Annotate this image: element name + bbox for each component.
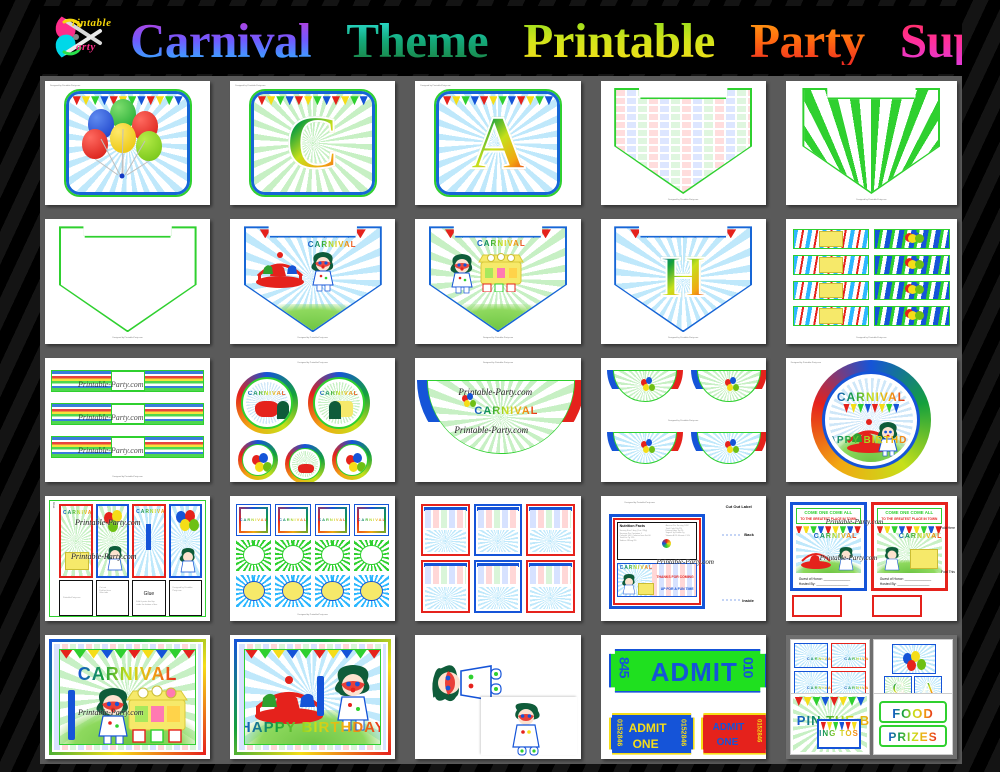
sheet-note: Designed by Printable-Party.com bbox=[824, 337, 919, 340]
pennant-shape: CARNIVAL bbox=[244, 226, 382, 332]
ticket-serial: 0152846 bbox=[680, 719, 687, 746]
gallery-item-happy-birthday-poster[interactable]: HAPPY BIRTHDAY bbox=[225, 630, 406, 764]
bottle-label: Printable-Party.com bbox=[51, 370, 204, 392]
glue-label: Glue bbox=[144, 591, 155, 597]
print-sheet: Designed by Printable-Party.com bbox=[601, 81, 766, 205]
pennant-inner bbox=[61, 228, 195, 330]
invite-caption: CARNIVAL bbox=[899, 533, 942, 540]
product-gallery-grid: Designed by Printable-Party.com bbox=[40, 76, 962, 764]
party-fan-small bbox=[607, 432, 683, 470]
clown-character-icon bbox=[178, 546, 198, 574]
sign-caption: CARNIVAL bbox=[844, 685, 870, 690]
invite-headline-2: TO THE GREATEST PLACE IN TOWN bbox=[881, 517, 937, 521]
gallery-item-cupcake-toppers-circles[interactable]: Designed by Printable-Party.com CARNIVAL… bbox=[225, 353, 406, 487]
print-sheet: CARNIVAL CARNIVAL CARNIVAL CARNIVAL bbox=[786, 635, 957, 759]
watermark: Printable-Party.com bbox=[78, 413, 144, 422]
gallery-item-water-bottle-labels[interactable]: Designed by Printable-Party.com Printabl… bbox=[40, 353, 221, 487]
banner-letter: H bbox=[661, 248, 706, 306]
party-fan-large: Printable-Party.com CARNIVAL Printable-P… bbox=[417, 380, 580, 464]
sheet-note: Designed by Printable-Party.com bbox=[824, 199, 919, 202]
note-card bbox=[526, 560, 574, 612]
watermark: Printable-Party.com bbox=[78, 380, 144, 389]
print-sheet: Glue CARNIVAL bbox=[45, 496, 210, 620]
sheet-note: Designed by Printable-Party.com bbox=[265, 614, 360, 617]
gallery-item-clown-cutouts[interactable] bbox=[410, 630, 591, 764]
bunting-icon bbox=[630, 229, 736, 238]
print-sheet: Designed by Printable-Party.com CARNIVAL bbox=[415, 219, 580, 343]
ticket-serial-right: 010 bbox=[741, 657, 757, 677]
sheet-note: Designed by Printable-Party.com bbox=[50, 85, 108, 88]
pennant-shape: CARNIVAL bbox=[429, 226, 567, 332]
favor-box-panel: CARNIVAL bbox=[59, 504, 93, 578]
plaque-frame: C bbox=[251, 91, 375, 195]
invite-headline-1: COME ONE COME ALL bbox=[804, 510, 852, 515]
glue-tab-label: Glue bbox=[52, 502, 56, 508]
favor-box-panel: CARNIVAL bbox=[132, 504, 166, 578]
print-sheet: Designed by Printable-Party.com Cut Out … bbox=[601, 496, 766, 620]
sticker-tile: CARNIVAL bbox=[354, 504, 389, 535]
panel-caption: CARNIVAL bbox=[63, 510, 93, 516]
nutrition-facts-title: Nutrition Facts bbox=[620, 524, 645, 528]
pennant-shape bbox=[802, 88, 940, 194]
pennant-inner: CARNIVAL bbox=[431, 228, 565, 330]
page-title: Carnival Theme Printable Party Supplies bbox=[130, 16, 962, 65]
sticker-sunburst bbox=[236, 540, 271, 571]
print-sheet: HAPPY BIRTHDAY bbox=[230, 635, 395, 759]
gallery-item-game-signs-sheet[interactable]: CARNIVAL CARNIVAL CARNIVAL CARNIVAL bbox=[781, 630, 962, 764]
title-word-printable: Printable bbox=[523, 16, 714, 65]
print-sheet bbox=[415, 635, 580, 759]
gallery-item-carousel-clown-pennant[interactable]: Designed by Printable-Party.com CARNIVAL bbox=[225, 214, 406, 348]
bunting-icon bbox=[795, 697, 865, 704]
gallery-item-small-party-fans[interactable]: Designed by Printable-Party.com bbox=[596, 353, 777, 487]
sheet-note: Designed by Printable-Party.com bbox=[636, 199, 731, 202]
sticker-sunburst bbox=[315, 540, 350, 571]
gallery-item-sticker-circles-sheet[interactable]: Designed by Printable-Party.com CARNIVAL… bbox=[225, 491, 406, 625]
sticker-sunburst bbox=[236, 575, 271, 606]
print-sheet: Designed by Printable-Party.com CARNIVAL… bbox=[230, 358, 395, 482]
printable-party-logo: rintable arty bbox=[54, 9, 124, 71]
watermark: Printable-Party.com bbox=[75, 518, 141, 527]
invite-caption: CARNIVAL bbox=[814, 533, 858, 540]
gallery-item-food-stand-clown-pennant[interactable]: Designed by Printable-Party.com CARNIVAL bbox=[410, 214, 591, 348]
party-fan-small bbox=[691, 432, 766, 470]
gallery-item-balloons-banner-panel[interactable]: Designed by Printable-Party.com bbox=[40, 76, 221, 210]
game-sign-prizes: PRIZES bbox=[888, 730, 937, 744]
title-word-party: Party bbox=[750, 16, 865, 65]
plaque-frame: A bbox=[436, 91, 560, 195]
admit-ticket-red[interactable]: ADMIT ONE 0152846 bbox=[701, 713, 766, 755]
clown-character-icon bbox=[447, 252, 477, 294]
sheet-note: Designed by Printable-Party.com bbox=[80, 337, 175, 340]
clown-cutout-small-icon bbox=[487, 703, 557, 759]
gallery-item-green-sunburst-pennant[interactable]: Designed by Printable-Party.com bbox=[781, 76, 962, 210]
gallery-item-letter-h-banner-pennant[interactable]: Designed by Printable-Party.com H bbox=[596, 214, 777, 348]
plate-small bbox=[285, 444, 325, 482]
invite-fields: Guest of Honor: ______________ Hosted By… bbox=[880, 577, 939, 584]
ticket-label: ADMIT bbox=[651, 657, 738, 688]
print-sheet: Designed by Printable-Party.com C bbox=[230, 81, 395, 205]
gallery-item-napkin-ring-wrappers[interactable]: Designed by Printable-Party.com bbox=[781, 214, 962, 348]
sheet-note: Designed by Printable-Party.com bbox=[80, 476, 175, 479]
carousel-icon bbox=[254, 246, 306, 290]
sheet-note: Designed by Printable-Party.com bbox=[268, 362, 358, 365]
sticker-sunburst bbox=[354, 540, 389, 571]
gallery-item-admit-one-tickets[interactable]: 845 ADMIT 010 0152846 ADMIT ONE 0152846 … bbox=[596, 630, 777, 764]
sticker-caption: CARNIVAL bbox=[358, 517, 386, 522]
sign-caption-bottom: HAPPY BIRTHDAY bbox=[829, 435, 913, 446]
invitation-card: COME ONE COME ALL TO THE GREATEST PLACE … bbox=[871, 502, 948, 590]
page-root: rintable arty Carnival Theme Printable P… bbox=[0, 0, 1000, 772]
carousel-icon bbox=[251, 670, 327, 726]
sticker-tile: CARNIVAL bbox=[236, 504, 271, 535]
sheet-note: Designed by Printable-Party.com bbox=[420, 85, 478, 88]
note-card bbox=[421, 560, 469, 612]
gallery-item-letter-a-banner-panel[interactable]: Designed by Printable-Party.com A bbox=[410, 76, 591, 210]
bunting-icon bbox=[445, 229, 551, 238]
plate-small bbox=[332, 440, 372, 480]
sheet-note: Designed by Printable-Party.com bbox=[636, 337, 731, 340]
print-sheet: Designed by Printable-Party.com bbox=[601, 358, 766, 482]
print-sheet: Designed by Printable-Party.com CARNIVAL bbox=[786, 358, 957, 482]
print-sheet: Designed by Printable-Party.com Printabl… bbox=[415, 358, 580, 482]
clown-character-icon bbox=[621, 573, 637, 595]
watermark: Printable-Party.com bbox=[454, 425, 528, 435]
watermark: Printable-Party.com bbox=[71, 552, 137, 561]
print-sheet: Designed by Printable-Party.com Printabl… bbox=[45, 358, 210, 482]
print-sheet: Designed by Printable-Party.com bbox=[786, 81, 957, 205]
banner-letter: C bbox=[285, 105, 340, 181]
poster-caption: HAPPY BIRTHDAY bbox=[244, 719, 381, 736]
sticker-sunburst bbox=[354, 575, 389, 606]
party-fan-small bbox=[691, 370, 766, 408]
leader-line-icon bbox=[722, 597, 742, 603]
print-sheet: Designed by Printable-Party.com bbox=[45, 81, 210, 205]
invite-headline-1: COME ONE COME ALL bbox=[885, 510, 933, 515]
pennant-caption: CARNIVAL bbox=[308, 240, 357, 249]
sign-preview: FOOD PRIZES bbox=[873, 693, 953, 755]
note-card bbox=[421, 504, 469, 556]
sheet-note: Designed by Printable-Party.com bbox=[791, 362, 849, 365]
print-sheet: Designed by Printable-Party.com bbox=[45, 219, 210, 343]
back-label: Back bbox=[744, 532, 754, 537]
sheet-note: Designed by Printable-Party.com bbox=[450, 337, 545, 340]
sticker-sunburst bbox=[275, 540, 310, 571]
bunting-icon bbox=[245, 650, 380, 662]
ticket-label-line-1: ADMIT bbox=[713, 722, 745, 733]
sticker-sunburst bbox=[275, 575, 310, 606]
print-sheet: Designed by Printable-Party.com bbox=[786, 219, 957, 343]
print-sheet: Designed by Printable-Party.com CARNIVAL… bbox=[230, 496, 395, 620]
invite-fields: Guest of Honor: ______________ Hosted By… bbox=[799, 577, 858, 584]
invitation-card: COME ONE COME ALL TO THE GREATEST PLACE … bbox=[790, 502, 867, 590]
pennant-inner: CARNIVAL bbox=[246, 228, 380, 330]
sheet-note: Designed by Printable-Party.com bbox=[453, 362, 543, 365]
favor-box-panel bbox=[96, 504, 130, 578]
watermark: Printable-Party.com bbox=[78, 446, 144, 455]
plate-small bbox=[238, 440, 278, 480]
ticket-label-line-1: ADMIT bbox=[629, 721, 667, 735]
plaque-frame bbox=[66, 91, 190, 195]
note-card bbox=[526, 504, 574, 556]
gallery-item-blue-sunburst-pennant[interactable]: Designed by Printable-Party.com bbox=[40, 214, 221, 348]
sign-preview: PIN THE BOW RING TOSS bbox=[790, 693, 870, 755]
bottle-label: Printable-Party.com bbox=[51, 436, 204, 458]
gallery-item-carnival-poster-sign[interactable]: CARNIVAL bbox=[40, 630, 221, 764]
title-word-supplies: Supplies bbox=[900, 16, 962, 65]
label-caption: CARNIVAL bbox=[620, 565, 653, 571]
sign-caption: CARNIVAL bbox=[844, 656, 870, 661]
pennant-shape bbox=[614, 88, 752, 194]
favor-box-panel bbox=[169, 504, 203, 578]
thanks-line-2: UP FOR A FUN TIME bbox=[661, 587, 694, 591]
watermark: Printable-Party.com bbox=[826, 518, 883, 526]
plate-caption: CARNIVAL bbox=[320, 391, 359, 397]
banner-letter: A bbox=[471, 105, 526, 181]
balloon-strings-icon bbox=[80, 127, 176, 179]
gallery-item-round-birthday-sign[interactable]: Designed by Printable-Party.com CARNIVAL bbox=[781, 353, 962, 487]
watermark: Printable-Party.com bbox=[657, 558, 714, 566]
clown-character-icon bbox=[883, 545, 901, 571]
page-header: rintable arty Carnival Theme Printable P… bbox=[40, 6, 962, 74]
title-word-carnival: Carnival bbox=[130, 16, 311, 65]
print-sheet: Designed by Printable-Party.com A bbox=[415, 81, 580, 205]
pennant-shape bbox=[59, 226, 197, 332]
fan-caption: CARNIVAL bbox=[474, 405, 538, 417]
sign-preview: C A bbox=[873, 639, 953, 701]
fold-here-label: Fold Here bbox=[940, 526, 955, 530]
gallery-item-thank-you-note-cards[interactable] bbox=[410, 491, 591, 625]
note-card bbox=[474, 504, 522, 556]
cut-out-label-heading: Cut Out Label bbox=[726, 504, 752, 509]
print-sheet: COME ONE COME ALL TO THE GREATEST PLACE … bbox=[786, 496, 957, 620]
leader-line-icon bbox=[722, 532, 742, 538]
plate-caption: CARNIVAL bbox=[248, 391, 287, 397]
inside-label: Inside bbox=[742, 598, 754, 603]
gallery-item-favor-box-template[interactable]: Glue CARNIVAL bbox=[40, 491, 221, 625]
watermark: Printable-Party.com bbox=[78, 708, 144, 717]
sign-caption-top: CARNIVAL bbox=[837, 390, 906, 404]
party-fan-small bbox=[607, 370, 683, 408]
sticker-caption: CARNIVAL bbox=[240, 517, 268, 522]
plate-large: CARNIVAL bbox=[308, 372, 370, 434]
pennant-shape: H bbox=[614, 226, 752, 332]
balloon-cluster-icon bbox=[80, 99, 176, 179]
ticket-serial: 0152846 bbox=[756, 719, 762, 742]
watermark: Printable-Party.com bbox=[820, 554, 877, 562]
plate-large: CARNIVAL bbox=[236, 372, 298, 434]
gallery-item-ticket-pattern-pennant[interactable]: Designed by Printable-Party.com bbox=[596, 76, 777, 210]
logo-line-2: arty bbox=[76, 41, 96, 53]
bunting-icon bbox=[877, 526, 942, 532]
admit-ticket-large[interactable]: 845 ADMIT 010 bbox=[609, 649, 766, 693]
print-sheet: 845 ADMIT 010 0152846 ADMIT ONE 0152846 … bbox=[601, 635, 766, 759]
gallery-item-large-party-fan[interactable]: Designed by Printable-Party.com Printabl… bbox=[410, 353, 591, 487]
ticket-label-line-2: ONE bbox=[717, 737, 739, 748]
pennant-inner bbox=[804, 90, 938, 192]
ticket-serial: 0152846 bbox=[616, 719, 623, 746]
logo-line-1: rintable bbox=[72, 17, 111, 29]
sheet-note: Designed by Printable-Party.com bbox=[265, 337, 360, 340]
gallery-item-party-invitations[interactable]: COME ONE COME ALL TO THE GREATEST PLACE … bbox=[781, 491, 962, 625]
sticker-tile: CARNIVAL bbox=[275, 504, 310, 535]
sticker-sunburst bbox=[315, 575, 350, 606]
ticket-serial-left: 845 bbox=[617, 657, 633, 677]
title-word-theme: Theme bbox=[346, 16, 488, 65]
sign-preview: CARNIVAL CARNIVAL CARNIVAL CARNIVAL bbox=[790, 639, 870, 701]
thanks-line-1: THANKS FOR COMING bbox=[656, 575, 693, 579]
sheet-note: Designed by Printable-Party.com bbox=[625, 502, 705, 505]
round-sign: CARNIVAL bbox=[811, 360, 931, 480]
admit-ticket-blue[interactable]: 0152846 ADMIT ONE 0152846 bbox=[609, 713, 695, 755]
sticker-caption: CARNIVAL bbox=[279, 517, 307, 522]
clown-character-icon bbox=[308, 250, 338, 292]
print-sheet: Designed by Printable-Party.com CARNIVAL bbox=[230, 219, 395, 343]
print-sheet: Designed by Printable-Party.com H bbox=[601, 219, 766, 343]
gallery-item-letter-c-banner-panel[interactable]: Designed by Printable-Party.com C bbox=[225, 76, 406, 210]
panel-caption: CARNIVAL bbox=[136, 509, 166, 515]
game-sign-food: FOOD bbox=[892, 706, 934, 721]
bunting-icon bbox=[260, 229, 366, 238]
ticket-label-line-2: ONE bbox=[633, 737, 659, 751]
pennant-caption: CARNIVAL bbox=[477, 239, 526, 248]
note-card bbox=[474, 560, 522, 612]
bunting-icon bbox=[796, 526, 861, 532]
fold-this-label: Fold This bbox=[941, 570, 955, 574]
game-sign-ring-toss: RING TOSS bbox=[817, 729, 861, 738]
pennant-inner: H bbox=[616, 228, 750, 330]
sticker-caption: CARNIVAL bbox=[318, 517, 346, 522]
print-sheet: CARNIVAL bbox=[45, 635, 210, 759]
food-stand-icon bbox=[475, 248, 527, 292]
print-sheet bbox=[415, 496, 580, 620]
bottle-label: Printable-Party.com bbox=[51, 403, 204, 425]
gallery-item-water-bottle-nutrition-label[interactable]: Designed by Printable-Party.com Cut Out … bbox=[596, 491, 777, 625]
sheet-note: Designed by Printable-Party.com bbox=[235, 85, 293, 88]
sheet-note: Designed by Printable-Party.com bbox=[638, 420, 728, 423]
sticker-tile: CARNIVAL bbox=[315, 504, 350, 535]
pennant-inner bbox=[616, 90, 750, 192]
bunting-icon bbox=[60, 650, 195, 662]
